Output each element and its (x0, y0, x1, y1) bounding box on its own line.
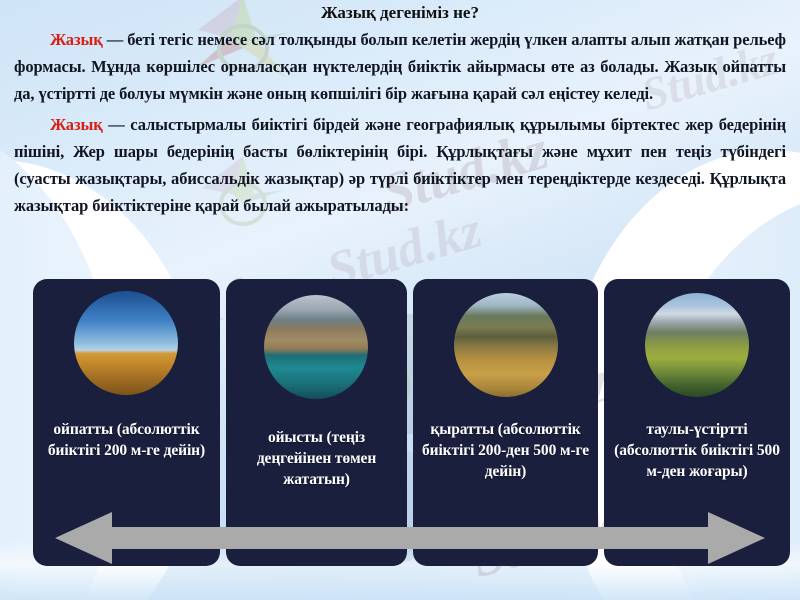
mountain-plateau-photo (645, 293, 749, 397)
paragraph-1-keyword: Жазық (50, 30, 103, 49)
mountain-plateau-photo-image (645, 293, 749, 397)
paragraph-2-dash: — (103, 115, 131, 134)
paragraph-2-keyword: Жазық (50, 115, 103, 134)
paragraph-1-dash: — (103, 30, 128, 49)
card-qyratty[interactable]: қыратты (абсолюттік биіктігі 200-ден 500… (413, 279, 598, 566)
rolling-hills-photo (454, 293, 558, 397)
card-oypatty[interactable]: ойпатты (абсолюттік биіктігі 200 м-ге де… (33, 279, 220, 566)
presentation-slide: Жазық дегеніміз не? Жазық — беті тегіс н… (0, 0, 800, 600)
paragraph-2-body: салыстырмалы биіктігі бірдей және геогра… (14, 115, 786, 215)
paragraph-2: Жазық — салыстырмалы биіктігі бірдей жән… (14, 111, 786, 219)
card-label-oyysty: ойысты (теңіз деңгейінен төмен жататын) (226, 427, 407, 490)
sea-coastline-photo (264, 295, 368, 399)
card-label-qyratty: қыратты (абсолюттік биіктігі 200-ден 500… (413, 419, 598, 482)
plain-types-card-row: ойпатты (абсолюттік биіктігі 200 м-ге де… (33, 279, 790, 566)
card-label-tauly-ustirtti: таулы-үстіртті (абсолюттік биіктігі 500 … (604, 419, 790, 482)
paragraph-1: Жазық — беті тегіс немесе сәл толқынды б… (14, 26, 786, 107)
page-title: Жазық дегеніміз не? (14, 2, 786, 24)
sea-coastline-photo-image (264, 295, 368, 399)
plain-field-photo (74, 291, 178, 395)
card-tauly-ustirtti[interactable]: таулы-үстіртті (абсолюттік биіктігі 500 … (604, 279, 790, 566)
card-oyysty[interactable]: ойысты (теңіз деңгейінен төмен жататын) (226, 279, 407, 566)
rolling-hills-photo-image (454, 293, 558, 397)
slide-text-block: Жазық дегеніміз не? Жазық — беті тегіс н… (0, 0, 800, 221)
paragraph-1-body: беті тегіс немесе сәл толқынды болып кел… (14, 30, 786, 103)
card-label-oypatty: ойпатты (абсолюттік биіктігі 200 м-ге де… (33, 419, 220, 461)
plain-field-photo-image (74, 291, 178, 395)
